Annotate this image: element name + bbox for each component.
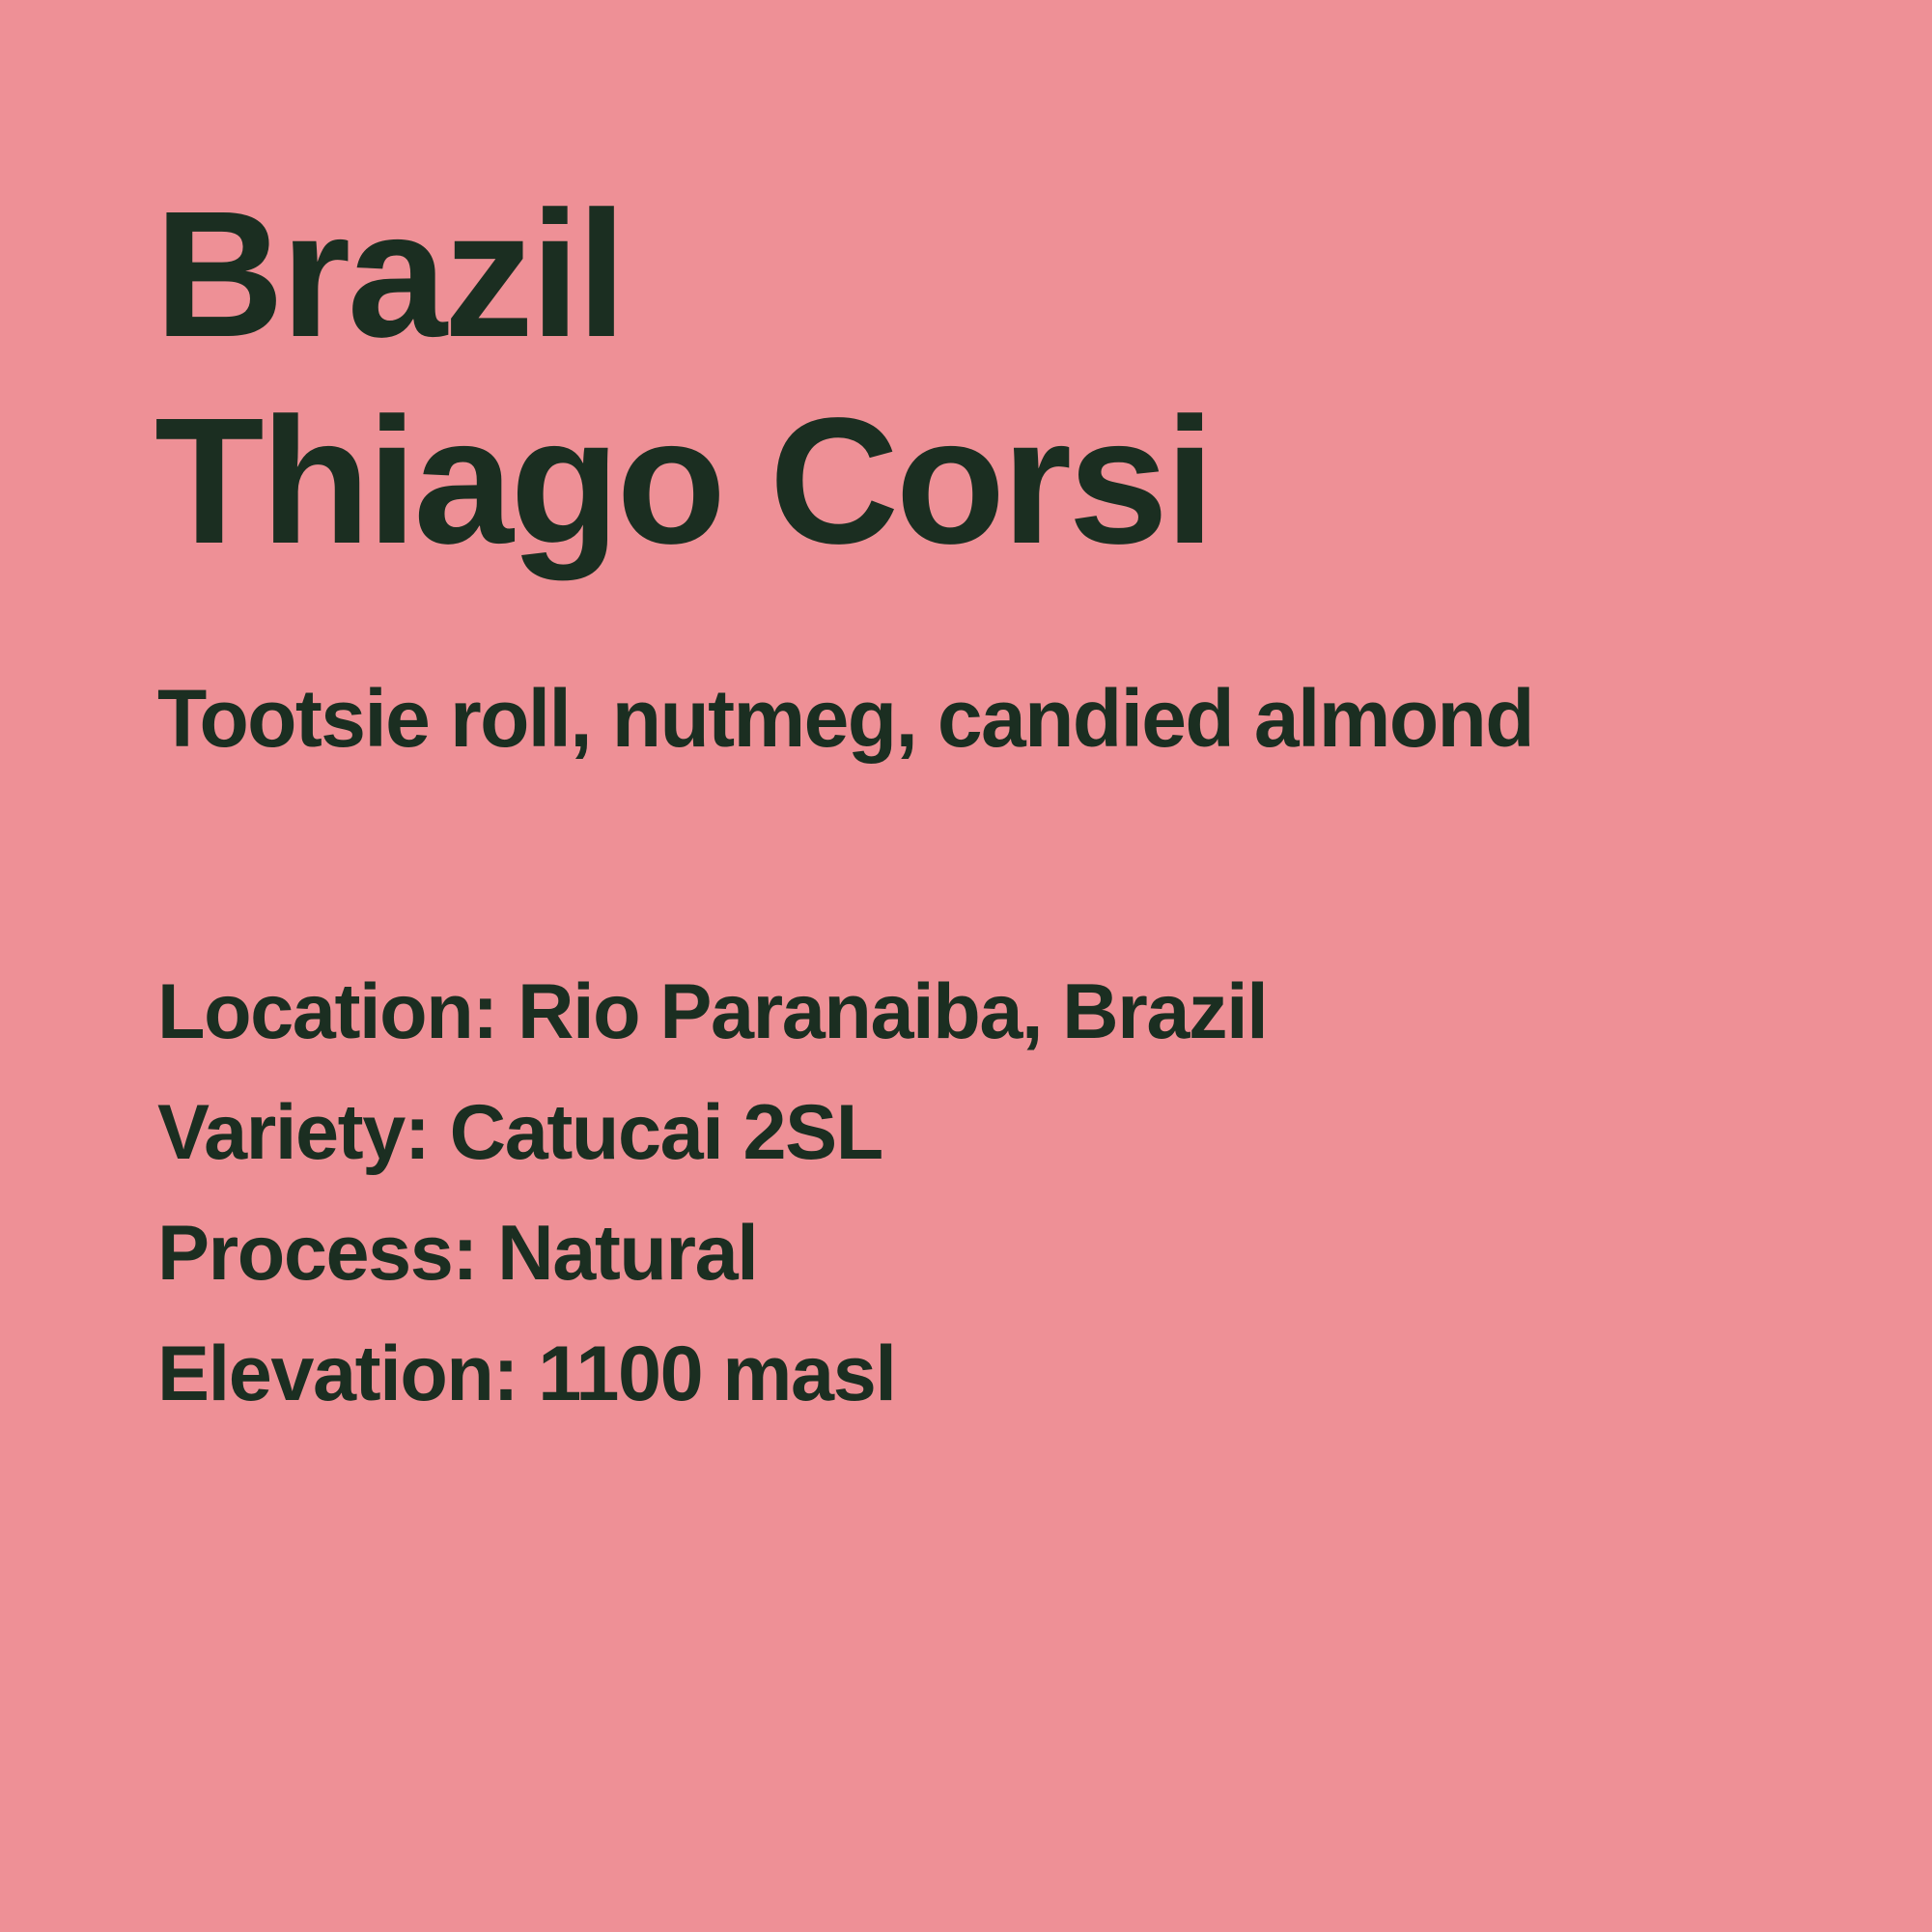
detail-label-process: Process: <box>157 1210 477 1297</box>
page-title: BrazilThiago Corsi <box>154 172 1796 585</box>
title-block: BrazilThiago Corsi <box>154 172 1796 585</box>
tasting-notes: Tootsie roll, nutmeg, candied almond <box>157 670 1818 767</box>
origin-producer: Thiago Corsi <box>154 378 1796 585</box>
detail-value-elevation: 1100 masl <box>538 1330 895 1417</box>
origin-country: Brazil <box>154 172 1796 378</box>
detail-value-location: Rio Paranaiba, Brazil <box>518 968 1267 1055</box>
coffee-origin-card: BrazilThiago Corsi Tootsie roll, nutmeg,… <box>0 0 1932 1932</box>
detail-value-variety: Catucai 2SL <box>450 1089 882 1176</box>
detail-value-process: Natural <box>497 1210 757 1297</box>
detail-row-location: Location: Rio Paranaiba, Brazil <box>157 952 1818 1073</box>
detail-row-process: Process: Natural <box>157 1193 1818 1314</box>
detail-row-variety: Variety: Catucai 2SL <box>157 1073 1818 1193</box>
detail-list: Location: Rio Paranaiba, Brazil Variety:… <box>157 952 1818 1435</box>
detail-row-elevation: Elevation: 1100 masl <box>157 1314 1818 1435</box>
detail-label-elevation: Elevation: <box>157 1330 518 1417</box>
detail-label-variety: Variety: <box>157 1089 429 1176</box>
detail-label-location: Location: <box>157 968 497 1055</box>
